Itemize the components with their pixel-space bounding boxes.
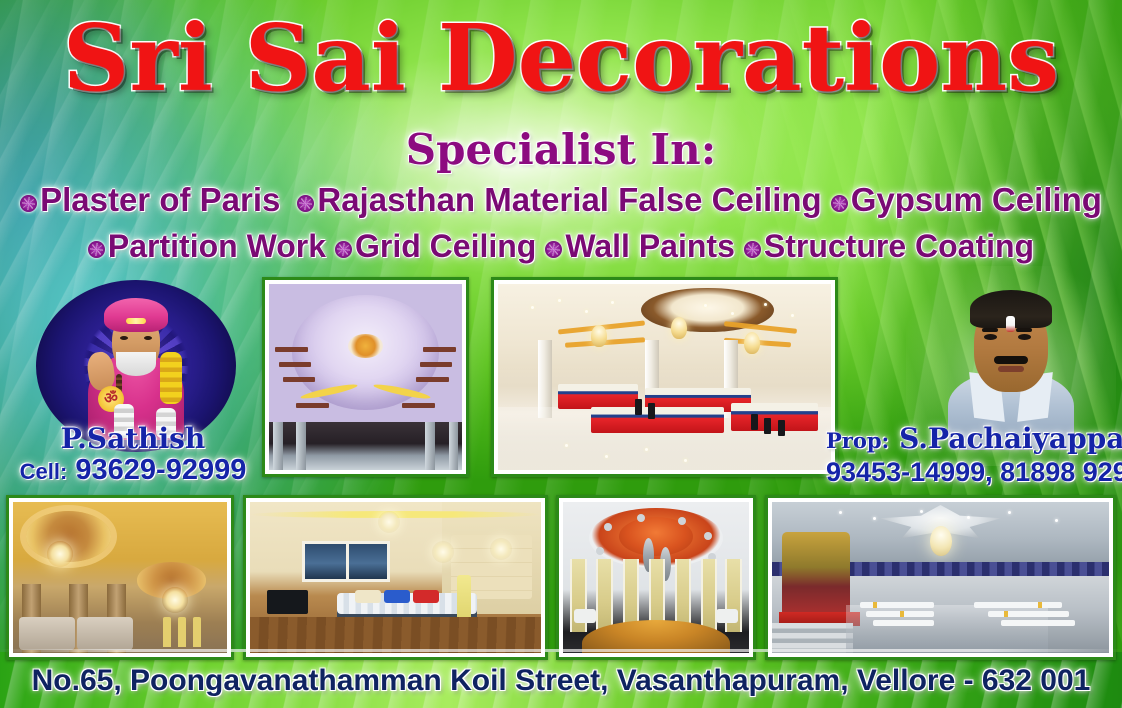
cell-label: Cell: [20, 459, 68, 484]
address-divider [0, 649, 1122, 652]
tilak-icon [1006, 316, 1015, 332]
services-list: Plaster of ParisRajasthan Material False… [4, 176, 1118, 270]
service-item: Rajasthan Material False Ceiling [317, 181, 821, 218]
phone-number[interactable]: 93629-92999 [75, 454, 246, 486]
gallery-photo-ceiling-lavender[interactable] [262, 277, 469, 477]
flower-bullet-icon [335, 241, 352, 258]
sai-baba-figure: ॐ [86, 290, 186, 440]
proprietor-name-right: Prop: S.Pachaiyappan [826, 424, 1116, 456]
flower-bullet-icon [20, 195, 37, 212]
contact-left: P.Sathish Cell: 93629-92999 [8, 424, 258, 488]
gallery-photo-bedroom[interactable] [243, 495, 548, 660]
owner-phone-left: Cell: 93629-92999 [8, 454, 258, 488]
services-line-1: Plaster of ParisRajasthan Material False… [4, 176, 1118, 223]
service-item: Gypsum Ceiling [851, 181, 1102, 218]
service-item: Partition Work [108, 228, 326, 264]
contact-right: Prop: S.Pachaiyappan 93453-14999, 81898 … [826, 424, 1116, 488]
specialist-subheading: Specialist In: [0, 128, 1122, 172]
business-title: Sri Sai Decorations [0, 6, 1122, 110]
gallery-photo-hall-wide[interactable] [491, 277, 838, 477]
gallery-photo-living-gold[interactable] [6, 495, 234, 660]
proprietor-phones[interactable]: 93453-14999, 81898 92999 [826, 456, 1116, 488]
service-item: Plaster of Paris [40, 181, 280, 218]
flower-bullet-icon [545, 241, 562, 258]
service-item: Structure Coating [764, 228, 1034, 264]
gallery-photo-ceiling-orange[interactable] [556, 495, 756, 660]
gallery-photo-banquet[interactable] [765, 495, 1116, 660]
proprietor-name: S.Pachaiyappan [899, 422, 1122, 455]
address-text: No.65, Poongavanathamman Koil Street, Va… [0, 658, 1122, 704]
owner-name-left: P.Sathish [8, 424, 258, 454]
advertisement-flyer: Sri Sai Decorations Specialist In: Plast… [0, 0, 1122, 708]
flower-bullet-icon [831, 195, 848, 212]
flower-bullet-icon [297, 195, 314, 212]
flower-bullet-icon [88, 241, 105, 258]
services-line-2: Partition WorkGrid CeilingWall PaintsStr… [4, 223, 1118, 270]
service-item: Grid Ceiling [355, 228, 536, 264]
flower-bullet-icon [744, 241, 761, 258]
service-item: Wall Paints [565, 228, 735, 264]
prop-label: Prop: [826, 428, 889, 453]
